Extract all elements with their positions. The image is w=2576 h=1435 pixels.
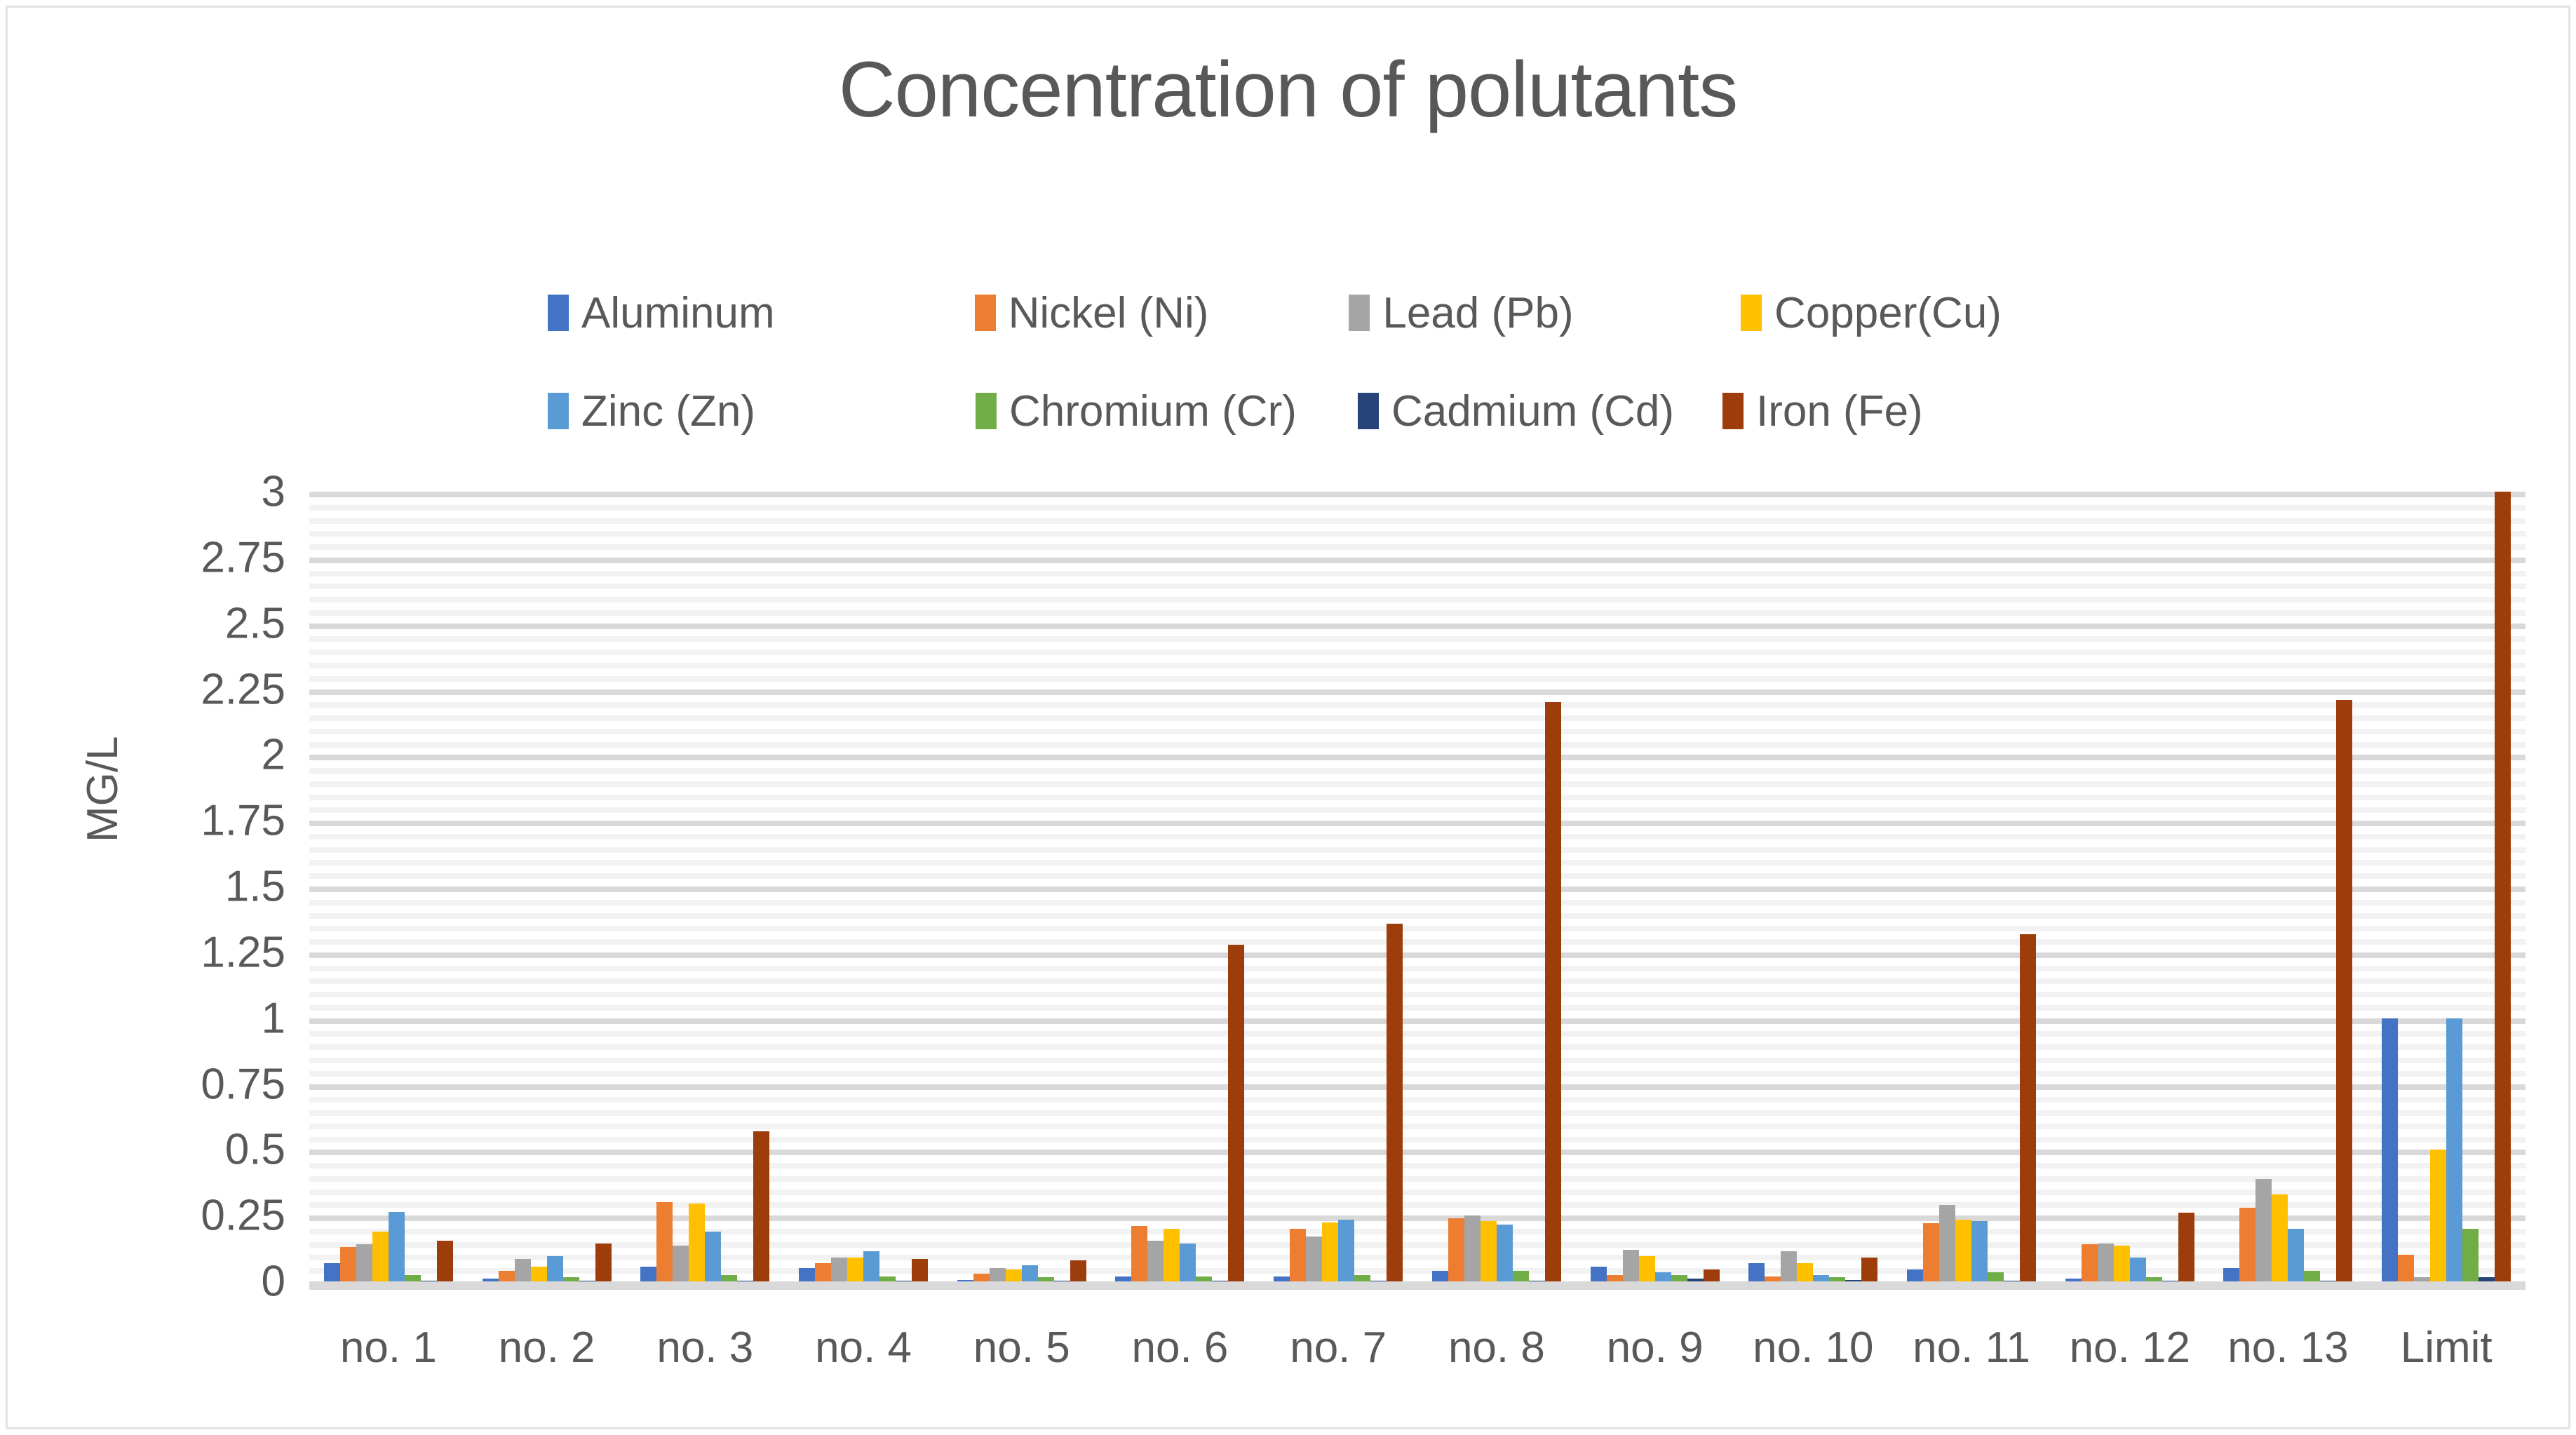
bar[interactable] [1006,1269,1022,1281]
y-tick-label: 0.5 [225,1125,285,1175]
bar[interactable] [2020,934,2036,1281]
bar[interactable] [912,1259,928,1281]
legend-label: Chromium (Cr) [1009,386,1297,436]
bar[interactable] [1338,1220,1354,1281]
bar[interactable] [640,1267,656,1281]
legend-swatch-icon [1741,295,1762,331]
bar[interactable] [1971,1221,1988,1281]
bar[interactable] [1988,1272,2004,1281]
bar[interactable] [1448,1218,1464,1281]
bar[interactable] [2255,1179,2272,1281]
bar[interactable] [1671,1275,1687,1281]
y-axis-ticks: 32.752.52.2521.751.51.2510.750.50.250 [141,492,302,1290]
chart-legend: Aluminum Nickel (Ni) Lead (Pb) Copper(Cu… [548,264,2056,460]
legend-item-zinc[interactable]: Zinc (Zn) [548,386,976,436]
bar[interactable] [1387,924,1403,1281]
bar[interactable] [1813,1275,1829,1281]
bar-group [1892,492,2051,1281]
x-axis-line [309,1281,2526,1290]
x-tick-label: no. 3 [626,1323,784,1373]
bar[interactable] [595,1244,612,1281]
bar[interactable] [1513,1271,1529,1281]
bar[interactable] [1180,1244,1196,1281]
bar[interactable] [831,1258,847,1281]
chart-title: Concentration of polutants [8,44,2568,135]
bar[interactable] [1748,1263,1765,1281]
y-tick-label: 0.25 [201,1191,285,1241]
x-tick-label: no. 13 [2209,1323,2368,1373]
bar[interactable] [705,1232,721,1281]
legend-swatch-icon [1349,295,1370,331]
bar[interactable] [973,1274,990,1281]
bar[interactable] [389,1212,405,1281]
bar[interactable] [547,1256,563,1281]
bar[interactable] [1607,1275,1623,1281]
x-tick-label: no. 11 [1892,1323,2051,1373]
bar[interactable] [405,1275,421,1281]
bar[interactable] [1545,702,1561,1281]
bar-group [1734,492,1892,1281]
bar[interactable] [2382,1018,2398,1281]
bar[interactable] [1907,1269,1923,1281]
bar[interactable] [1354,1275,1370,1281]
bar[interactable] [799,1268,815,1281]
bar[interactable] [2398,1255,2414,1281]
legend-label: Cadmium (Cd) [1391,386,1674,436]
bar[interactable] [990,1268,1006,1281]
y-tick-label: 0 [262,1257,285,1307]
x-tick-label: no. 1 [309,1323,468,1373]
legend-item-lead[interactable]: Lead (Pb) [1349,288,1741,338]
legend-swatch-icon [975,295,996,331]
bar[interactable] [1639,1256,1655,1281]
bar[interactable] [340,1247,356,1281]
bar[interactable] [1115,1276,1131,1282]
bar-group [2367,492,2526,1281]
bar[interactable] [656,1202,673,1281]
bar[interactable] [1704,1269,1720,1281]
bar[interactable] [2304,1271,2320,1281]
bar[interactable] [515,1259,531,1281]
bar-group [626,492,784,1281]
legend-label: Zinc (Zn) [581,386,755,436]
bar-group [2209,492,2368,1281]
bar[interactable] [356,1244,372,1281]
bar-group [468,492,626,1281]
bar[interactable] [437,1241,453,1281]
legend-label: Nickel (Ni) [1009,288,1209,338]
bar[interactable] [1322,1222,1338,1281]
bar[interactable] [1765,1276,1781,1282]
bar[interactable] [1939,1205,1955,1281]
bar[interactable] [1797,1263,1813,1281]
bar[interactable] [2495,492,2511,1281]
bar[interactable] [2239,1208,2255,1281]
legend-label: Copper(Cu) [1774,288,2002,338]
bar[interactable] [2178,1213,2194,1281]
bar[interactable] [1432,1271,1448,1281]
bar[interactable] [1306,1237,1322,1281]
bar[interactable] [1147,1241,1164,1281]
bar[interactable] [2288,1229,2304,1281]
bar[interactable] [2446,1018,2462,1281]
y-tick-label: 2.75 [201,532,285,582]
legend-item-chromium[interactable]: Chromium (Cr) [976,386,1358,436]
bar[interactable] [1290,1229,1306,1281]
plot-area [309,492,2526,1290]
bar-group [943,492,1101,1281]
bar[interactable] [689,1204,705,1281]
legend-label: Lead (Pb) [1382,288,1573,338]
y-tick-label: 1.75 [201,796,285,846]
legend-item-copper[interactable]: Copper(Cu) [1741,288,2056,338]
x-tick-label: no. 12 [2051,1323,2209,1373]
legend-swatch-icon [1722,393,1744,429]
bar[interactable] [324,1263,340,1281]
bar[interactable] [1591,1267,1607,1281]
plot-wrapper: 32.752.52.2521.751.51.2510.750.50.250 [141,492,2526,1305]
bar[interactable] [1861,1258,1877,1281]
legend-label: Aluminum [581,288,775,338]
legend-swatch-icon [548,295,569,331]
x-tick-label: no. 6 [1101,1323,1260,1373]
bar-group [309,492,468,1281]
bar[interactable] [499,1271,515,1281]
bar[interactable] [1196,1276,1212,1282]
bar[interactable] [1623,1250,1639,1281]
y-tick-label: 1.5 [225,862,285,912]
bar[interactable] [2082,1244,2098,1281]
bar[interactable] [1228,945,1244,1281]
bar[interactable] [1781,1251,1797,1281]
y-tick-label: 1 [262,993,285,1043]
legend-swatch-icon [548,393,569,429]
bar[interactable] [2114,1246,2130,1281]
legend-item-nickel[interactable]: Nickel (Ni) [975,288,1349,338]
legend-item-aluminum[interactable]: Aluminum [548,288,975,338]
x-tick-label: Limit [2367,1323,2526,1373]
bar[interactable] [753,1131,769,1281]
bar[interactable] [2130,1258,2146,1281]
bar[interactable] [1655,1272,1671,1281]
bar-group [1259,492,1417,1281]
y-tick-label: 1.25 [201,927,285,977]
bar[interactable] [1274,1276,1290,1282]
x-tick-label: no. 9 [1576,1323,1734,1373]
bar-group [784,492,943,1281]
legend-swatch-icon [1358,393,1379,429]
bar[interactable] [1070,1260,1086,1281]
bar-group [1101,492,1260,1281]
bar[interactable] [1464,1215,1481,1281]
legend-label: Iron (Fe) [1756,386,1923,436]
bar[interactable] [2272,1194,2288,1281]
bar[interactable] [372,1232,389,1281]
bar[interactable] [879,1276,896,1282]
bar-group [1576,492,1734,1281]
bar-groups [309,492,2526,1281]
x-tick-label: no. 2 [468,1323,626,1373]
bar[interactable] [721,1275,737,1281]
x-tick-label: no. 7 [1259,1323,1417,1373]
bar[interactable] [863,1251,879,1281]
bar[interactable] [2462,1229,2479,1281]
bar[interactable] [1164,1229,1180,1281]
bar[interactable] [1923,1223,1939,1281]
bar[interactable] [2430,1150,2446,1281]
legend-item-cadmium[interactable]: Cadmium (Cd) [1358,386,1722,436]
bar-group [2051,492,2209,1281]
x-tick-label: no. 8 [1417,1323,1576,1373]
y-tick-label: 3 [262,467,285,517]
chart-container: Concentration of polutants Aluminum Nick… [6,6,2570,1429]
y-tick-label: 2 [262,730,285,780]
bar[interactable] [1022,1265,1038,1281]
bar[interactable] [1955,1220,1971,1281]
x-tick-label: no. 4 [784,1323,943,1373]
bar[interactable] [2336,700,2352,1281]
bar[interactable] [673,1246,689,1281]
x-axis-labels: no. 1no. 2no. 3no. 4no. 5no. 6no. 7no. 8… [309,1323,2526,1373]
bar[interactable] [2098,1244,2114,1281]
legend-swatch-icon [976,393,997,429]
bar[interactable] [847,1258,863,1281]
bar[interactable] [2223,1268,2239,1281]
x-tick-label: no. 5 [943,1323,1101,1373]
y-axis-title: MG/L [78,736,128,842]
bar[interactable] [1131,1226,1147,1281]
y-tick-label: 0.75 [201,1059,285,1109]
y-tick-label: 2.25 [201,664,285,714]
legend-row-2: Zinc (Zn) Chromium (Cr) Cadmium (Cd) Iro… [548,362,2056,460]
bar-group [1417,492,1576,1281]
x-tick-label: no. 10 [1734,1323,1892,1373]
bar[interactable] [1497,1225,1513,1281]
bar[interactable] [531,1267,547,1281]
legend-item-iron[interactable]: Iron (Fe) [1722,386,2003,436]
bar[interactable] [815,1263,831,1281]
bar[interactable] [1481,1221,1497,1281]
y-tick-label: 2.5 [225,598,285,648]
legend-row-1: Aluminum Nickel (Ni) Lead (Pb) Copper(Cu… [548,264,2056,362]
